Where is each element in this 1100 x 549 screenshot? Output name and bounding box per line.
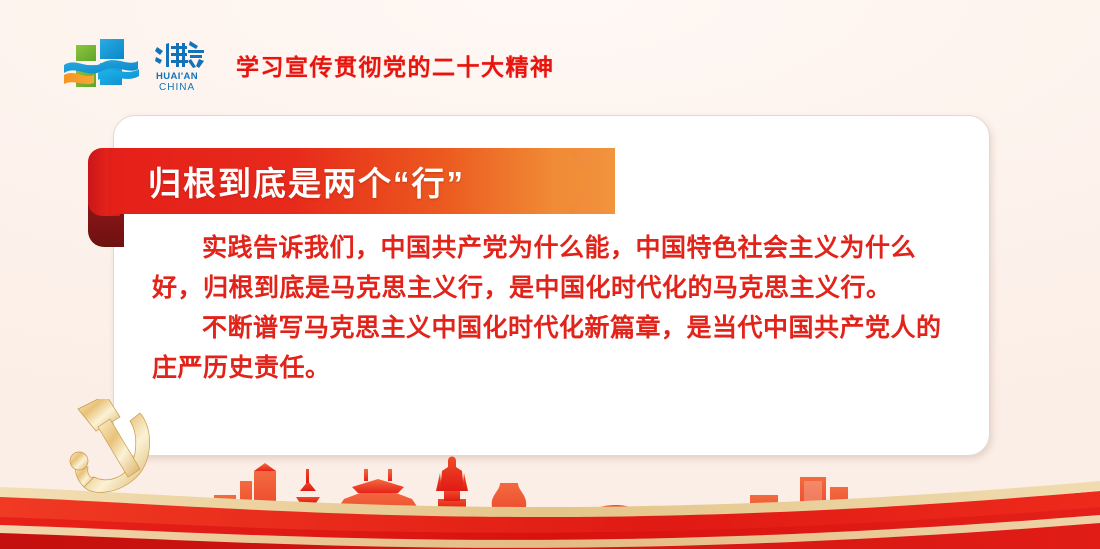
card-body: 实践告诉我们，中国共产党为什么能，中国特色社会主义为什么好，归根到底是马克思主义… [152, 228, 952, 388]
page-title: 学习宣传贯彻党的二十大精神 [236, 48, 555, 82]
svg-text:HUAI'AN: HUAI'AN [156, 71, 198, 82]
poster-stage: HUAI'AN CHINA 学习宣传贯彻党的二十大精神 归根到底是两个“行” 实… [0, 0, 1100, 549]
huaian-city-logo-icon [62, 35, 140, 95]
bottom-decoration [0, 399, 1100, 549]
huaian-wordmark-icon: HUAI'AN CHINA [154, 37, 206, 93]
party-emblem-hammer-sickle [70, 399, 150, 492]
svg-text:CHINA: CHINA [159, 82, 195, 93]
paragraph: 不断谱写马克思主义中国化时代化新篇章，是当代中国共产党人的庄严历史责任。 [152, 308, 952, 388]
page-header: HUAI'AN CHINA 学习宣传贯彻党的二十大精神 [62, 34, 555, 96]
paragraph: 实践告诉我们，中国共产党为什么能，中国特色社会主义为什么好，归根到底是马克思主义… [152, 228, 952, 308]
